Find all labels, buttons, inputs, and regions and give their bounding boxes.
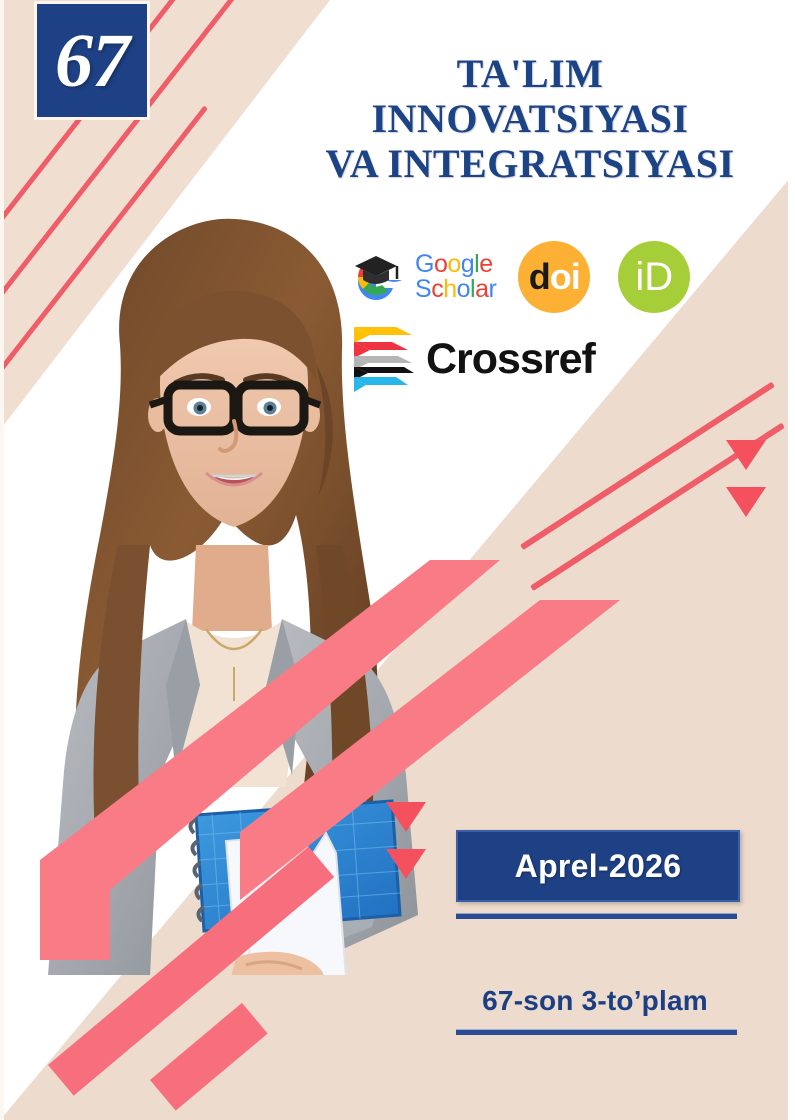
indexing-logos-row: Google Scholar doi iD [345,232,715,322]
page-title: TA'LIM INNOVATSIYASI VA INTEGRATSIYASI [290,52,770,186]
issue-volume-line: 67-son 3-to’plam [450,985,740,1017]
triangle-marker-bottom-1 [386,802,426,832]
edge-strip-left [0,0,4,1120]
edge-strip-right [788,0,795,1120]
title-line-2: INNOVATSIYASI [290,97,770,142]
triangle-marker-right-2 [726,487,766,517]
issue-volume-text: 67-son 3-to’plam [482,985,708,1016]
crossref-wordmark: Crossref [426,338,595,381]
journal-cover: 67 TA'LIM INNOVATSIYASI VA INTEGRATSIYAS… [0,0,795,1120]
doi-logo: doi [518,241,590,313]
doi-letters-oi: oi [550,256,580,297]
google-scholar-wordmark: Google Scholar [415,252,496,302]
google-scholar-line-2: Scholar [415,277,496,302]
issue-date-text: Aprel-2026 [515,848,682,885]
triangle-marker-right-1 [726,440,766,470]
orcid-wordmark: iD [635,257,673,297]
google-scholar-icon [345,246,407,308]
issue-number-badge: 67 [37,4,147,117]
doi-wordmark: doi [529,259,580,295]
triangle-marker-bottom-2 [386,849,426,879]
doi-letter-d: d [529,256,550,297]
issue-number-text: 67 [55,23,129,99]
crossref-logo: Crossref [352,325,595,393]
rule-under-issue [456,1029,737,1035]
orcid-logo: iD [618,241,690,313]
rule-under-date [456,913,737,919]
issue-date-badge: Aprel-2026 [456,830,740,902]
google-scholar-line-1: Google [415,252,496,277]
crossref-icon [352,325,414,393]
title-line-1: TA'LIM [290,52,770,97]
google-scholar-logo: Google Scholar [345,246,496,308]
title-line-3: VA INTEGRATSIYASI [290,142,770,187]
